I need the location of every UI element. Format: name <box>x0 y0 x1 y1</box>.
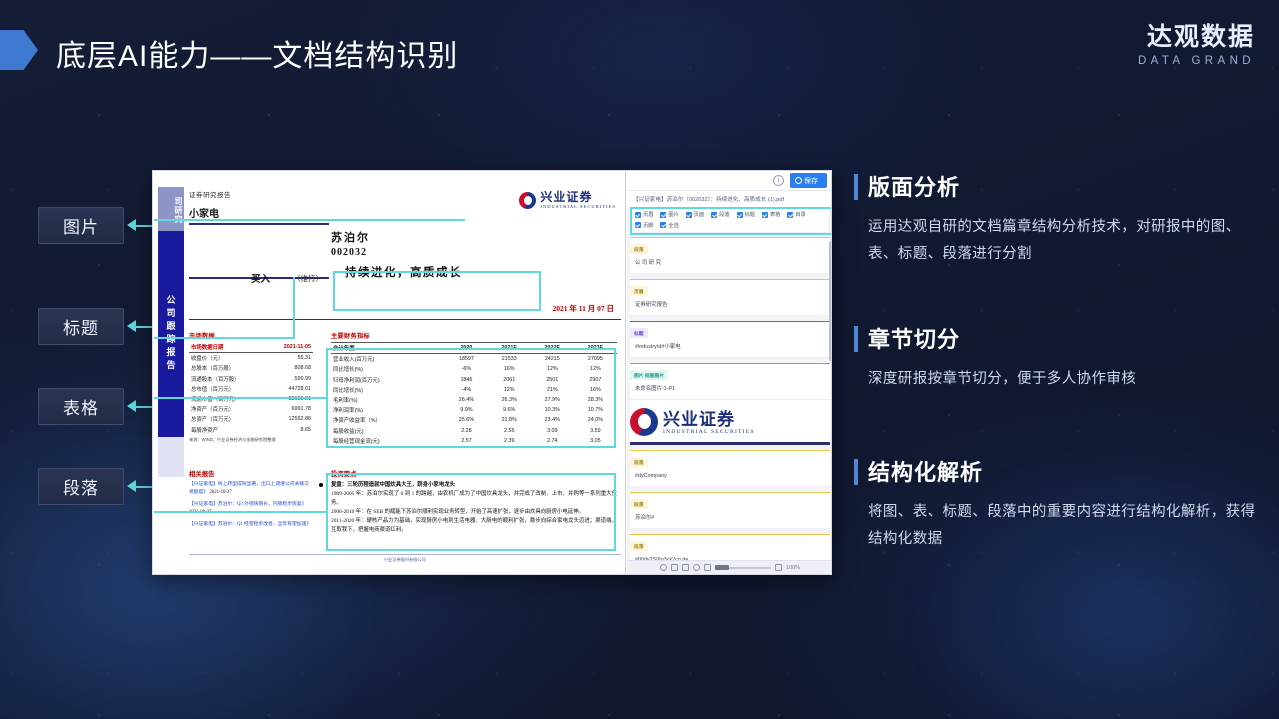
result-block-tag: 标题 <box>630 328 648 338</box>
result-block-tag: 段落 <box>630 244 648 254</box>
result-toolbar: i 保存 <box>627 171 832 191</box>
feature-chapter-split: 章节切分 深度研报按章节切分，便于多人协作审核 <box>868 322 1268 393</box>
zoom-in-icon[interactable] <box>775 564 782 571</box>
callout-chip-title: 标题 <box>38 308 124 345</box>
result-block-value: 苏泊尔# <box>630 511 830 529</box>
pdf-vertical-sidebar: 司研究 公司跟踪报告 <box>158 187 184 477</box>
market-row-value: 55.31 <box>267 353 313 364</box>
market-table-row: 净资产（百万元）6991.78 <box>189 404 313 414</box>
thumbnail-broker-en: INDUSTRIAL SECURITIES <box>663 429 755 435</box>
highlight-table-lead <box>154 397 328 399</box>
pointer-icon[interactable] <box>671 564 678 571</box>
related-report-date: 2021-10-27 <box>208 490 232 495</box>
market-row-value: 808.68 <box>267 363 313 373</box>
fit-width-icon[interactable] <box>704 564 711 571</box>
market-row-key: 每股净资产 <box>189 425 267 435</box>
thumbnail-rule <box>630 442 830 445</box>
feature-body: 深度研报按章节切分，便于多人协作审核 <box>868 366 1268 393</box>
result-block-value: 证券研究报告 <box>630 298 830 316</box>
market-row-value: 44728.01 <box>267 384 313 394</box>
market-table-row: 市场数据日期2021-11-05 <box>189 342 313 353</box>
related-report-item[interactable]: 【兴证家电】苏泊尔：Q1 经营稳步改善，全年有望加速》 <box>189 521 313 529</box>
pdf-sidebar-main-label: 公司跟踪报告 <box>158 231 184 437</box>
rating-label: 买入 <box>251 271 270 285</box>
market-table-row: 总资产（百万元）12552.86 <box>189 414 313 424</box>
result-block[interactable]: 段落#dyCompany <box>630 450 830 487</box>
result-block-value: #industryId#小家电 <box>630 340 830 358</box>
market-row-key: 总资产（百万元） <box>189 414 267 424</box>
app-screenshot: 司研究 公司跟踪报告 证券研究报告 小家电 兴业证券 INDUSTRIAL SE… <box>152 170 832 575</box>
result-block-tag: 段落 <box>630 499 648 509</box>
stock-name: 苏泊尔 <box>331 229 370 245</box>
highlight-box-filters <box>630 207 832 235</box>
zoom-slider[interactable] <box>715 567 771 569</box>
broker-logo-mark-icon <box>519 192 536 209</box>
result-scrollbar[interactable] <box>829 241 832 361</box>
feature-structured-parse: 结构化解析 将图、表、标题、段落中的重要内容进行结构化解析，获得结构化数据 <box>868 455 1268 553</box>
market-row-key: 流通股本（百万股） <box>189 374 267 384</box>
divider-third <box>189 319 621 320</box>
stock-code: 002032 <box>331 247 367 258</box>
highlight-title-v <box>293 277 295 339</box>
report-date: 2021 年 11 月 07 日 <box>553 303 614 314</box>
market-table-body: 市场数据日期2021-11-05收盘价（元）55.31总股本（百万股）808.6… <box>189 342 313 435</box>
connector-arrow-title <box>127 320 136 332</box>
thumbnail-broker-cn: 兴业证券 <box>663 410 755 429</box>
related-reports-caption: 相关报告 <box>189 469 313 478</box>
callout-chip-table: 表格 <box>38 388 124 425</box>
highlight-box-paragraph <box>326 473 616 551</box>
market-row-key: 总股本（百万股） <box>189 363 267 373</box>
result-image-thumbnail: 兴业证券INDUSTRIAL SECURITIES <box>630 405 830 439</box>
brand-name-en: DATA GRAND <box>1138 52 1255 70</box>
market-row-value: 12552.86 <box>267 414 313 424</box>
broker-name-cn: 兴业证券 <box>540 191 616 203</box>
feature-title: 章节切分 <box>868 322 1268 354</box>
result-block[interactable]: 段落公 司 研 究 <box>630 237 830 274</box>
feature-accent-bar <box>854 326 858 352</box>
rotate-icon[interactable] <box>660 564 667 571</box>
zoom-level-label: 100% <box>786 565 800 571</box>
highlight-box-headline <box>333 271 541 311</box>
arrow-marker-icon <box>0 30 38 70</box>
financial-table-caption: 主要财务指标 <box>331 331 617 340</box>
market-data-table: 市场数据 市场数据日期2021-11-05收盘价（元）55.31总股本（百万股）… <box>189 331 313 443</box>
info-icon[interactable]: i <box>773 175 784 186</box>
result-block-tag: 页眉 <box>630 286 648 296</box>
result-block-tag: 段落 <box>630 457 648 467</box>
result-block-value: #dyCompany <box>630 469 830 487</box>
divider-top <box>189 223 329 225</box>
related-report-item[interactable]: 【兴证家电】苏泊尔：Q3 外销快增长，内销稳步恢复》 2021-08-27 <box>189 501 313 517</box>
result-block-value: 未命名图片-1-P1 <box>630 382 830 400</box>
market-row-value: 33185.31 <box>267 394 313 404</box>
market-table-source: 来源：WIND，兴业证券经济与金融研究院整理 <box>189 437 313 443</box>
market-table-row: 每股净资产8.65 <box>189 425 313 435</box>
connector-arrow-image <box>127 219 136 231</box>
connector-arrow-table <box>127 400 136 412</box>
broker-logo: 兴业证券 INDUSTRIAL SECURITIES <box>519 191 616 210</box>
feature-title: 版面分析 <box>868 170 1268 202</box>
page-fit-icon[interactable] <box>682 564 689 571</box>
broker-name-en: INDUSTRIAL SECURITIES <box>540 205 616 210</box>
pdf-sidebar-footer <box>158 437 184 477</box>
related-reports: 相关报告 【兴证家电】线上转型成效显著，出口上调增公司关联交易额度》 2021-… <box>189 469 313 533</box>
result-block[interactable]: 页眉证券研究报告 <box>630 279 830 316</box>
highlight-image-line-end <box>463 219 465 221</box>
pdf-sidebar-top-label: 司研究 <box>158 187 184 231</box>
callout-chip-image: 图片 <box>38 207 124 244</box>
callout-chip-paragraph: 段落 <box>38 468 124 505</box>
feature-layout-analysis: 版面分析 运用达观自研的文档篇章结构分析技术，对研报中的图、表、标题、段落进行分… <box>868 170 1268 268</box>
feature-title: 结构化解析 <box>868 455 1268 487</box>
market-row-value: 8.65 <box>267 425 313 435</box>
viewer-bottom-toolbar[interactable]: 100% <box>627 560 832 574</box>
highlight-title-h <box>154 337 295 339</box>
result-block[interactable]: 标题#industryId#小家电 <box>630 321 830 358</box>
connector-arrow-paragraph <box>127 480 136 492</box>
result-block[interactable]: 图片 插图图片未命名图片-1-P1兴业证券INDUSTRIAL SECURITI… <box>630 363 830 445</box>
market-row-value: 599.99 <box>267 374 313 384</box>
highlight-image-line <box>154 219 464 221</box>
market-row-key: 收盘价（元） <box>189 353 267 364</box>
related-report-item[interactable]: 【兴证家电】线上转型成效显著，出口上调增公司关联交易额度》 2021-10-27 <box>189 481 313 497</box>
file-name-label: 【兴证家电】苏泊尔（002032）：持续进化、高质成长 (1).pdf <box>627 191 832 207</box>
market-row-value: 6991.78 <box>267 404 313 414</box>
rating-sub-label: （维持） <box>293 273 323 284</box>
result-block-value: 公 司 研 究 <box>630 256 830 274</box>
market-table-row: 收盘价（元）55.31 <box>189 353 313 364</box>
save-button[interactable]: 保存 <box>790 173 827 188</box>
related-report-title[interactable]: 【兴证家电】线上转型成效显著，出口上调增公司关联交易额度》 <box>189 482 309 495</box>
feature-body: 运用达观自研的文档篇章结构分析技术，对研报中的图、表、标题、段落进行分割 <box>868 214 1268 268</box>
brand-logo: 达观数据 DATA GRAND <box>1138 22 1255 70</box>
related-report-title[interactable]: 【兴证家电】苏泊尔：Q1 经营稳步改善，全年有望加速》 <box>189 522 311 527</box>
market-row-key: 流通市值（百万元） <box>189 394 267 404</box>
result-block-list[interactable]: 段落公 司 研 究页眉证券研究报告标题#industryId#小家电图片 插图图… <box>630 237 830 565</box>
feature-accent-bar <box>854 174 858 200</box>
highlight-box-table <box>326 348 616 448</box>
pdf-footer: 兴业证券股份有限公司 <box>189 554 621 563</box>
market-row-key: 市场数据日期 <box>189 342 267 353</box>
result-block[interactable]: 段落苏泊尔# <box>630 492 830 529</box>
feature-accent-bar <box>854 459 858 485</box>
feature-body: 将图、表、标题、段落中的重要内容进行结构化解析，获得结构化数据 <box>868 499 1268 553</box>
brand-name-cn: 达观数据 <box>1138 22 1255 52</box>
market-row-key: 总市值（百万元） <box>189 384 267 394</box>
highlight-paragraph-lead <box>154 511 328 513</box>
market-table-row: 总市值（百万元）44728.01 <box>189 384 313 394</box>
market-row-value: 2021-11-05 <box>267 342 313 353</box>
bullet-icon <box>319 483 323 487</box>
zoom-out-icon[interactable] <box>693 564 700 571</box>
broker-logo-mark-icon <box>630 408 658 436</box>
result-block-tag: 段落 <box>630 541 648 551</box>
related-report-title[interactable]: 【兴证家电】苏泊尔：Q3 外销快增长，内销稳步恢复》 <box>189 502 306 507</box>
page-title: 底层AI能力——文档结构识别 <box>56 31 458 75</box>
market-row-key: 净资产（百万元） <box>189 404 267 414</box>
slide-header: 底层AI能力——文档结构识别 达观数据 DATA GRAND <box>0 0 1279 96</box>
result-block-tag: 图片 插图图片 <box>630 370 668 380</box>
market-table-row: 总股本（百万股）808.68 <box>189 363 313 373</box>
market-table-row: 流通市值（百万元）33185.31 <box>189 394 313 404</box>
market-table-row: 流通股本（百万股）599.99 <box>189 374 313 384</box>
